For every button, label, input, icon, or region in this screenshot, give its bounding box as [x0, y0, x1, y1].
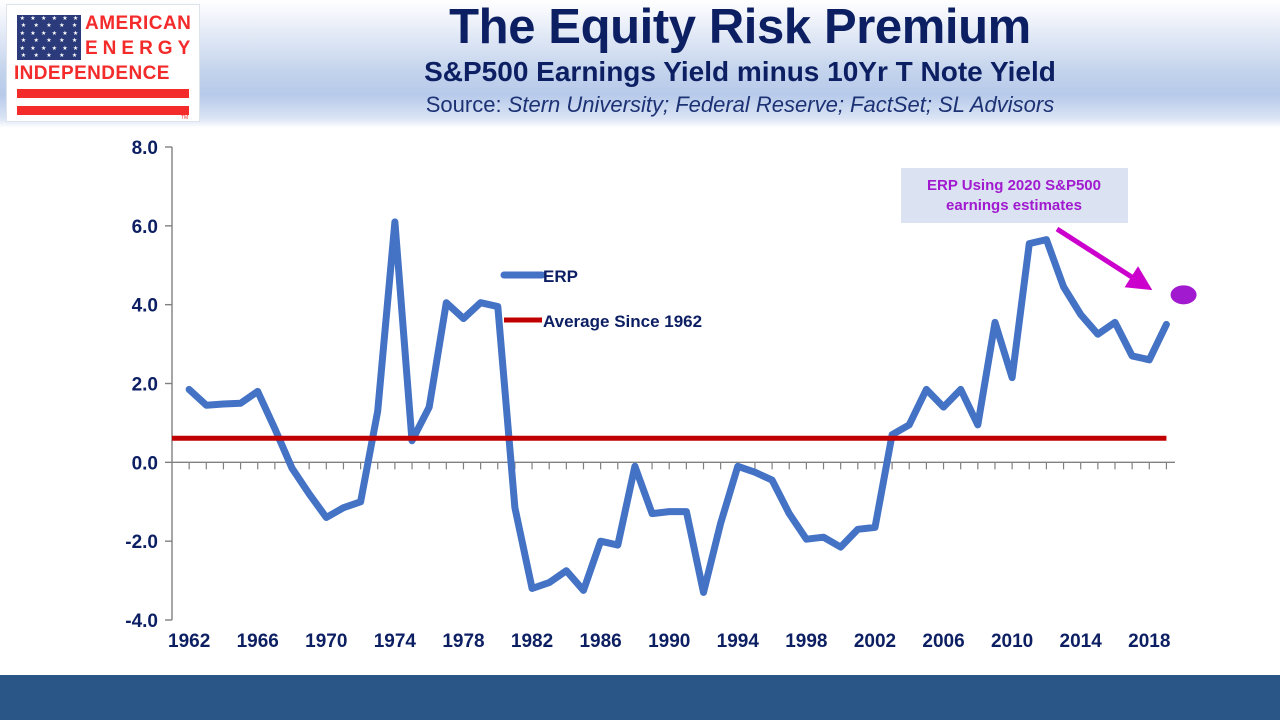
footer-band	[0, 675, 1280, 720]
x-axis-tick-label: 1978	[442, 631, 484, 652]
source-line: Source: Stern University; Federal Reserv…	[200, 92, 1280, 118]
y-axis-tick-label: -4.0	[125, 611, 158, 632]
logo-stripe-lower	[17, 106, 189, 115]
y-axis-tick-label: 0.0	[132, 453, 158, 474]
page-title: The Equity Risk Premium	[200, 0, 1280, 55]
legend-label-erp: ERP	[543, 267, 578, 286]
logo-trademark: TM	[181, 115, 188, 121]
y-axis-tick-label: 2.0	[132, 375, 158, 396]
usa-flag-icon: ★★★★★★ ★★★★★ ★★★★★★ ★★★★★ ★★★★★★ ★★★★★	[17, 15, 81, 60]
x-axis-tick-label: 1982	[511, 631, 553, 652]
x-axis-tick-label: 2006	[922, 631, 964, 652]
chart-canvas: 8.06.04.02.00.0-2.0-4.0 1962196619701974…	[0, 128, 1280, 675]
x-axis-tick-label: 1970	[305, 631, 347, 652]
equity-risk-premium-line-chart: 8.06.04.02.00.0-2.0-4.0 1962196619701974…	[0, 128, 1280, 675]
logo-text-american: AMERICAN	[85, 13, 191, 35]
y-axis-ticks	[165, 147, 172, 620]
y-axis-tick-label: -2.0	[125, 532, 158, 553]
x-axis-tick-label: 1966	[237, 631, 279, 652]
y-axis-tick-label: 6.0	[132, 217, 158, 238]
x-axis-tick-label: 1962	[168, 631, 210, 652]
source-value: Stern University; Federal Reserve; FactS…	[508, 92, 1055, 117]
legend-label-average: Average Since 1962	[543, 312, 702, 331]
x-axis-tick-label: 2014	[1060, 631, 1103, 652]
logo-text-independence: INDEPENDENCE	[14, 63, 170, 85]
erp-series-line	[189, 222, 1166, 593]
x-axis-tick-label: 1998	[785, 631, 827, 652]
x-axis-ticks	[189, 462, 1166, 469]
source-label: Source:	[426, 92, 502, 117]
logo-stripe-upper	[17, 89, 189, 98]
x-axis-tick-labels: 1962196619701974197819821986199019941998…	[168, 631, 1170, 652]
estimate-dot-marker	[1171, 285, 1197, 304]
x-axis-tick-label: 2002	[854, 631, 896, 652]
x-axis-tick-label: 2010	[991, 631, 1033, 652]
logo-text-energy: ENERGY	[85, 38, 195, 60]
page-subtitle: S&P500 Earnings Yield minus 10Yr T Note …	[200, 56, 1280, 88]
american-energy-independence-logo: ★★★★★★ ★★★★★ ★★★★★★ ★★★★★ ★★★★★★ ★★★★★ A…	[6, 4, 200, 122]
y-axis-tick-labels: 8.06.04.02.00.0-2.0-4.0	[125, 138, 158, 632]
x-axis-tick-label: 1974	[374, 631, 417, 652]
x-axis-tick-label: 1994	[717, 631, 760, 652]
x-axis-tick-label: 2018	[1128, 631, 1170, 652]
y-axis-tick-label: 4.0	[132, 296, 158, 317]
chart-legend: ERP Average Since 1962	[504, 267, 702, 331]
arrow-down-right-icon	[1057, 229, 1138, 281]
callout-line-1: ERP Using 2020 S&P500	[927, 177, 1101, 194]
y-axis-tick-label: 8.0	[132, 138, 158, 159]
x-axis-tick-label: 1990	[648, 631, 690, 652]
callout-line-2: earnings estimates	[946, 197, 1082, 214]
callout-annotation: ERP Using 2020 S&P500 earnings estimates	[901, 168, 1197, 304]
x-axis-tick-label: 1986	[579, 631, 621, 652]
